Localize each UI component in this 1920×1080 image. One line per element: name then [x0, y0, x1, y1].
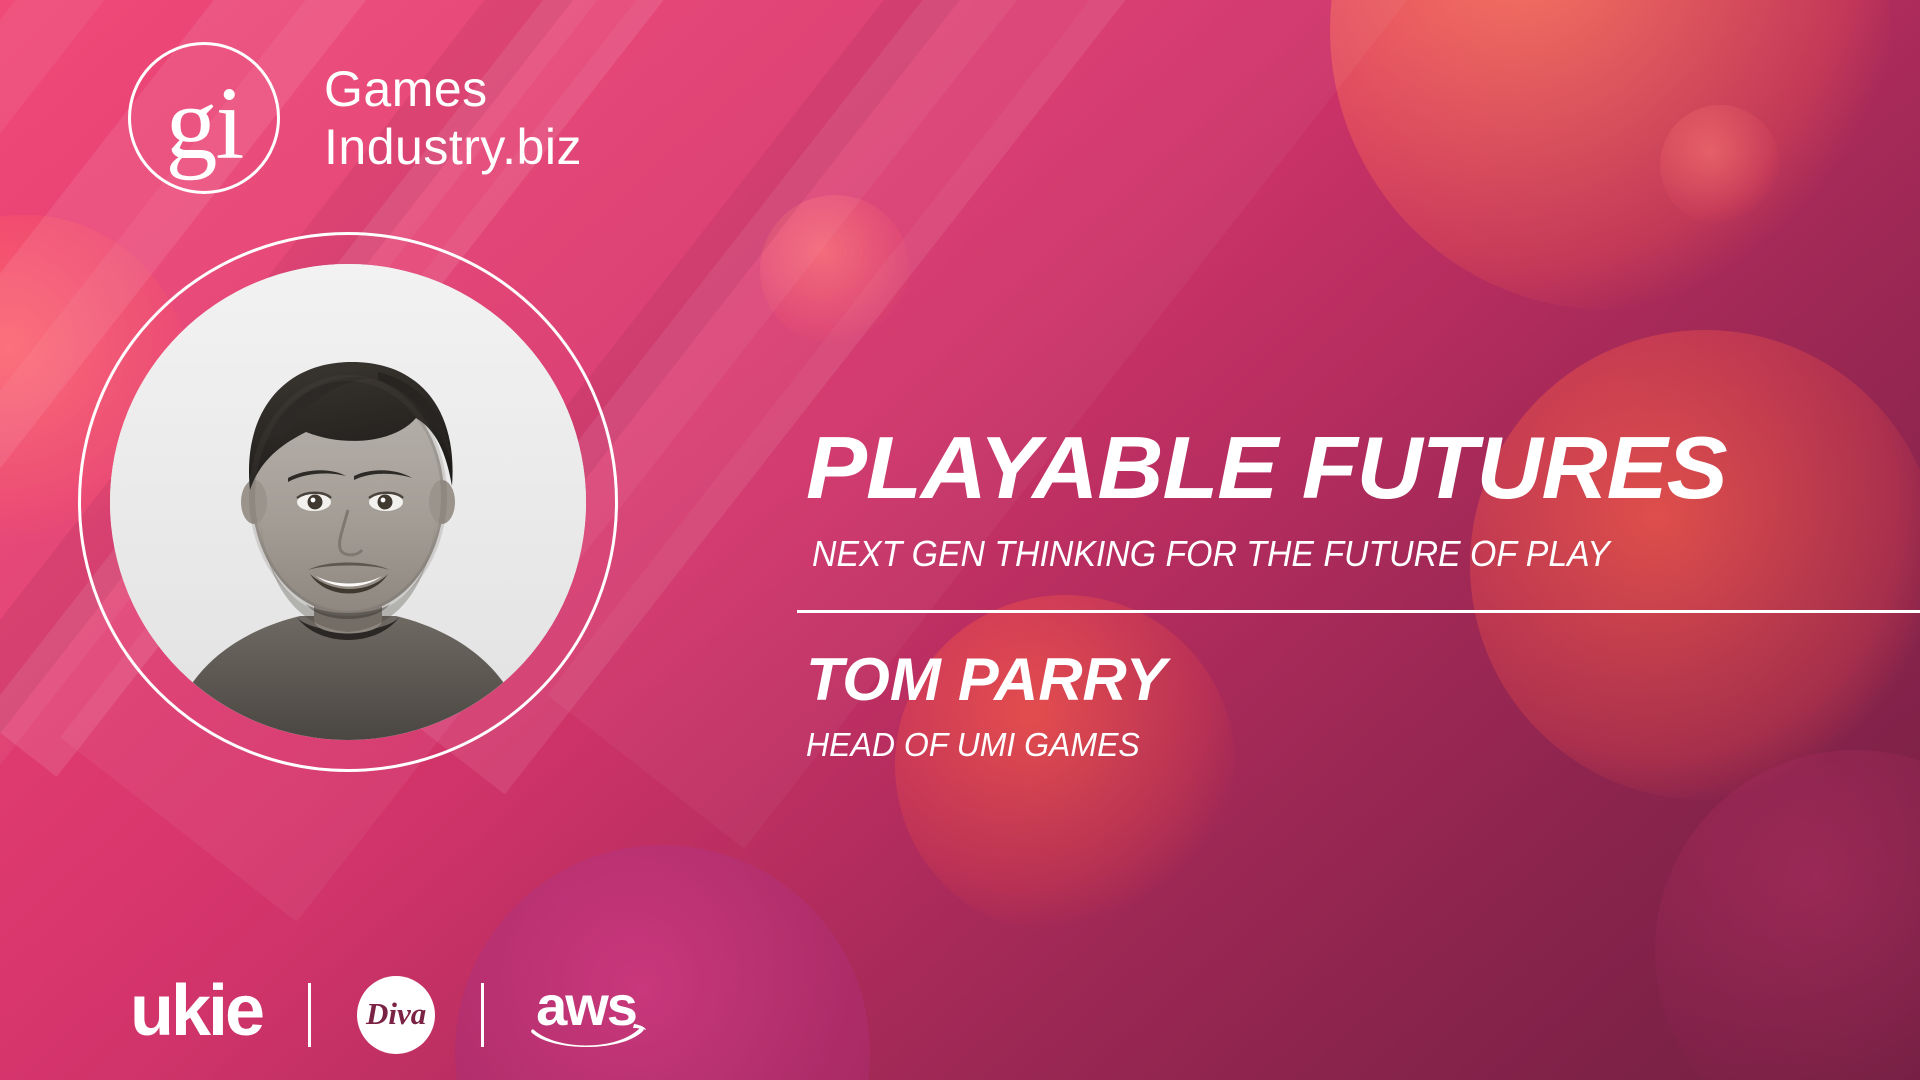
- coral-blob-top-right: [1330, 0, 1890, 310]
- sponsor-row: ukie Diva aws: [130, 970, 650, 1060]
- logo-gi-mark: gi: [166, 83, 243, 164]
- pink-blob-logo-right: [1660, 105, 1780, 225]
- sponsor-logo-aws[interactable]: aws: [530, 976, 650, 1054]
- aws-smile-arrow-icon: [530, 1022, 650, 1054]
- sponsor-separator-1: [308, 983, 311, 1047]
- divider: [797, 610, 1920, 613]
- brand-logo[interactable]: gi Games Industry.biz: [128, 42, 582, 194]
- speaker-role: HEAD OF UMI GAMES: [806, 728, 1140, 761]
- pink-blob-upper-mid: [760, 195, 910, 345]
- promo-banner: gi Games Industry.biz: [0, 0, 1920, 1080]
- avatar: [110, 264, 586, 740]
- page-title: PLAYABLE FUTURES: [806, 424, 1727, 512]
- logo-circle-icon: gi: [128, 42, 280, 194]
- portrait-photo-icon: [110, 264, 586, 740]
- sponsor-logo-ukie[interactable]: ukie: [130, 975, 262, 1047]
- logo-wordmark: Games Industry.biz: [324, 60, 582, 176]
- diva-wordmark: Diva: [366, 998, 426, 1029]
- page-subtitle: NEXT GEN THINKING FOR THE FUTURE OF PLAY: [812, 536, 1610, 572]
- sponsor-logo-diva[interactable]: Diva: [357, 976, 435, 1054]
- speaker-name: TOM PARRY: [806, 650, 1166, 710]
- sponsor-separator-2: [481, 983, 484, 1047]
- maroon-blob-bottom-right: [1655, 750, 1920, 1080]
